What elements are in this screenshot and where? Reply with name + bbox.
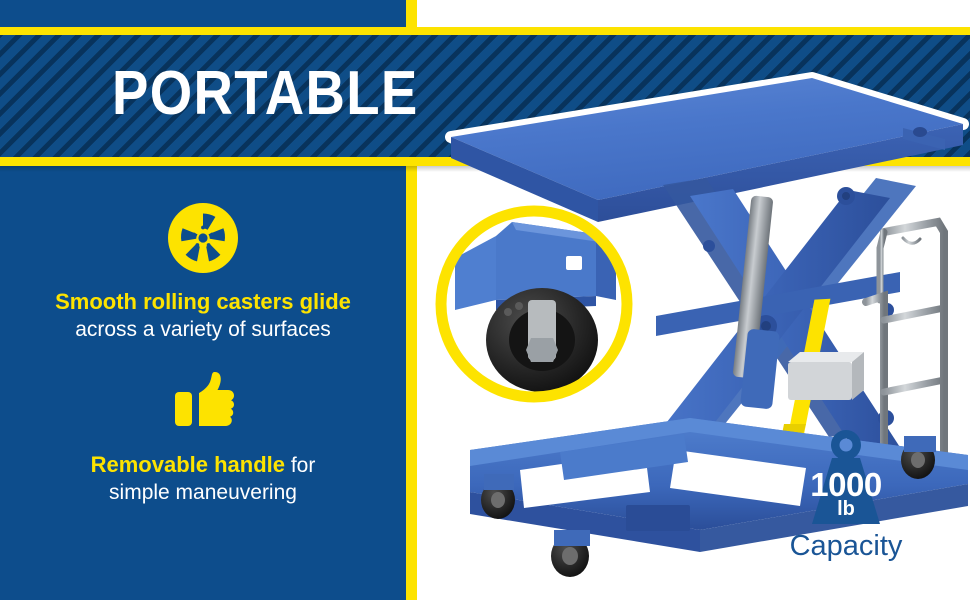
marketing-banner-image: PORTABLE [0,0,970,600]
thumbs-up-icon [0,359,406,443]
feature-item-handle: Removable handle for simple maneuvering [0,359,406,508]
feature-list: Smooth rolling casters glide across a va… [0,196,406,522]
feature-line-1: Smooth rolling casters glide [0,288,406,316]
feature-item-casters: Smooth rolling casters glide across a va… [0,196,406,345]
wheel-icon [0,196,406,280]
weight-icon: 1000 lb [786,428,906,528]
feature-text-handle: Removable handle for simple maneuvering [0,451,406,508]
vertical-yellow-divider [406,0,417,600]
capacity-label: Capacity [786,530,906,563]
feature-text-casters: Smooth rolling casters glide across a va… [0,288,406,345]
capacity-badge: 1000 lb Capacity [786,428,906,563]
feature-line-2: simple maneuvering [109,481,297,504]
capacity-unit: lb [786,498,906,521]
feature-line-1: Removable handle for [0,451,406,479]
feature-line-2: across a variety of surfaces [75,318,331,341]
